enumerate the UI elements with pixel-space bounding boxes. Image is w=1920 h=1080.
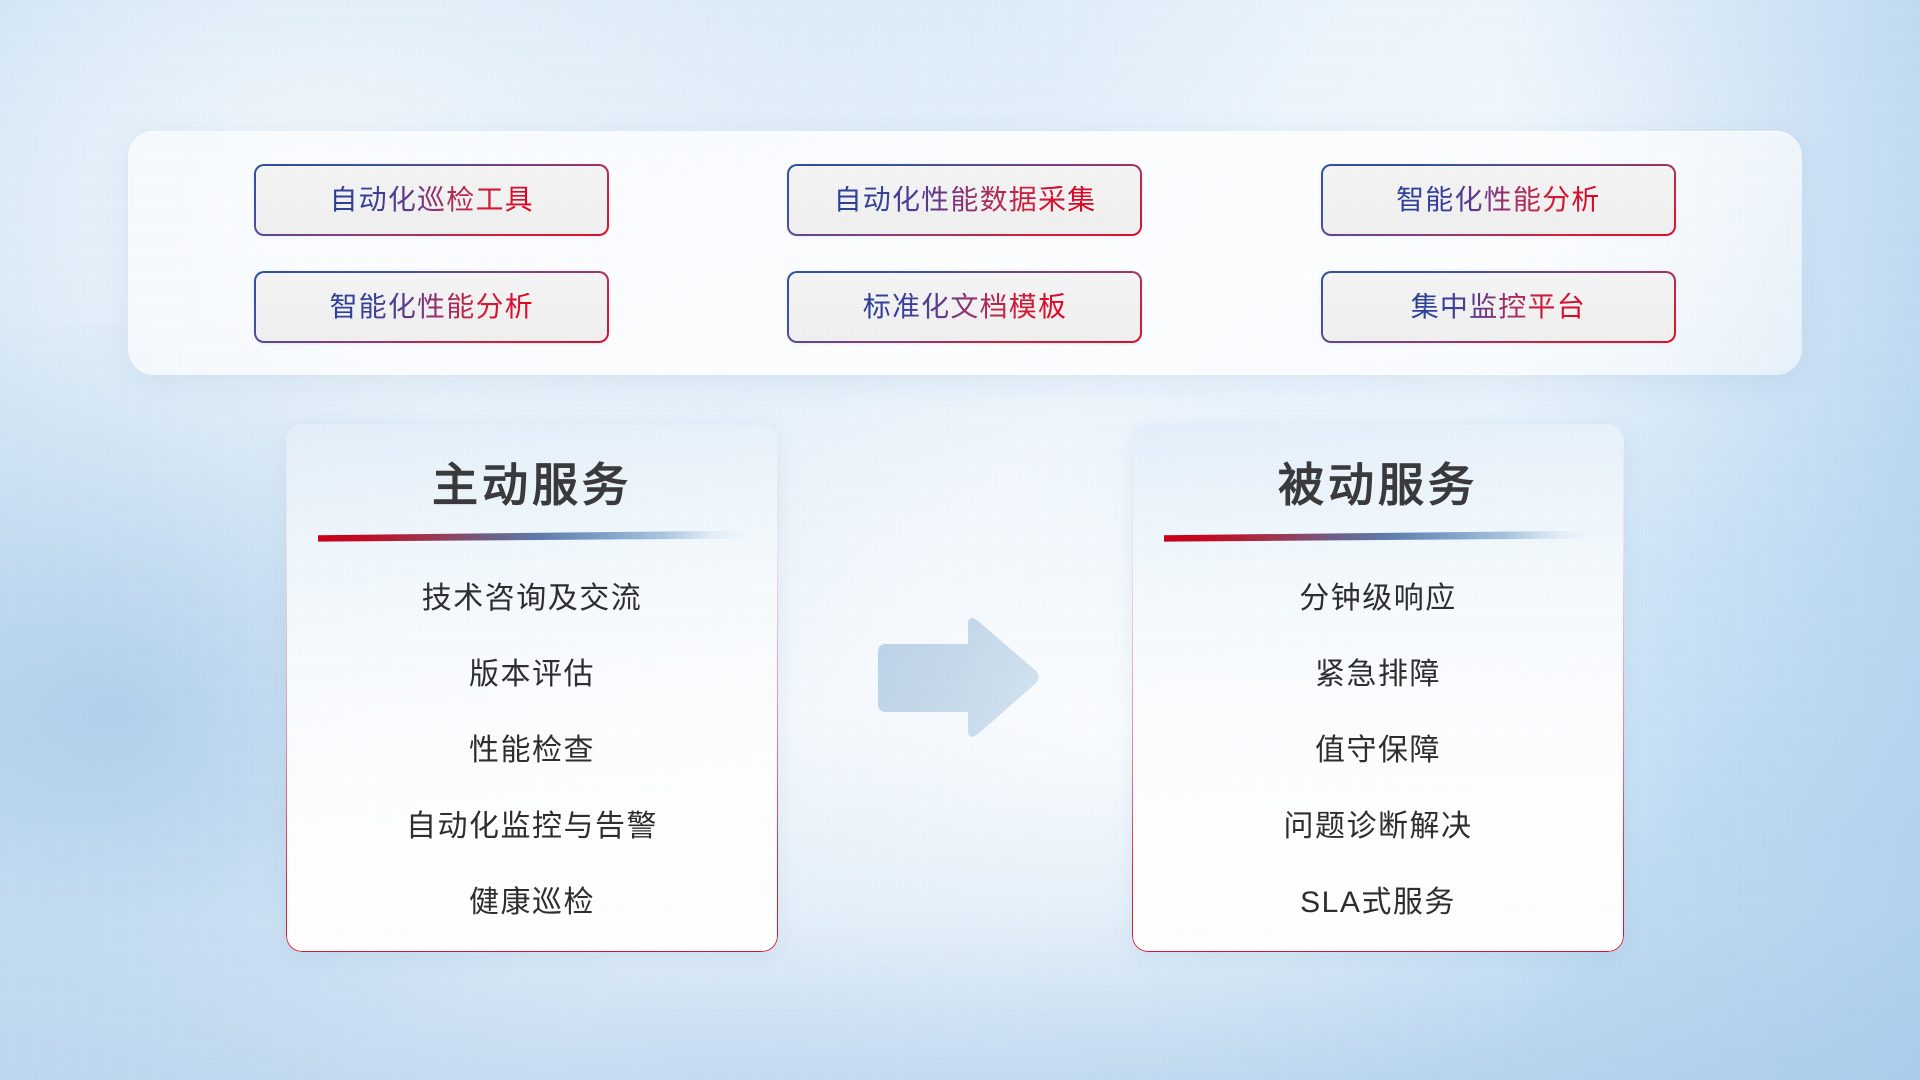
slide-stage: 自动化巡检工具 自动化性能数据采集 智能化性能分析 智能化性能分析 标准化文档模… bbox=[0, 0, 1920, 1080]
list-item[interactable]: 值守保障 bbox=[1132, 722, 1624, 780]
active-service-title: 主动服务 bbox=[432, 460, 632, 511]
capability-pill[interactable]: 标准化文档模板 bbox=[787, 271, 1142, 343]
capability-pill[interactable]: 自动化性能数据采集 bbox=[787, 164, 1142, 236]
capability-panel: 自动化巡检工具 自动化性能数据采集 智能化性能分析 智能化性能分析 标准化文档模… bbox=[128, 131, 1802, 375]
active-service-divider bbox=[318, 531, 746, 542]
list-item[interactable]: 问题诊断解决 bbox=[1132, 798, 1624, 856]
active-service-card: 主动服务 技术咨询及交流 版本评估 性能检查 自动化监控与告警 健康巡检 bbox=[286, 424, 778, 952]
passive-service-list: 分钟级响应 紧急排障 值守保障 问题诊断解决 SLA式服务 bbox=[1132, 570, 1624, 952]
list-item[interactable]: 技术咨询及交流 bbox=[286, 570, 778, 628]
list-item[interactable]: 分钟级响应 bbox=[1132, 570, 1624, 628]
active-service-list: 技术咨询及交流 版本评估 性能检查 自动化监控与告警 健康巡检 bbox=[286, 570, 778, 952]
capability-pill-label: 智能化性能分析 bbox=[1396, 186, 1600, 214]
capability-pill-label: 标准化文档模板 bbox=[863, 293, 1067, 321]
arrow-right-icon bbox=[872, 614, 1042, 742]
passive-service-card: 被动服务 分钟级响应 紧急排障 值守保障 问题诊断解决 SLA式服务 bbox=[1132, 424, 1624, 952]
capability-pill-label: 自动化巡检工具 bbox=[329, 186, 533, 214]
capability-pill-label: 集中监控平台 bbox=[1411, 293, 1586, 321]
capability-pill[interactable]: 智能化性能分析 bbox=[254, 271, 609, 343]
list-item[interactable]: 自动化监控与告警 bbox=[286, 798, 778, 856]
capability-pill[interactable]: 智能化性能分析 bbox=[1321, 164, 1676, 236]
capability-pill[interactable]: 自动化巡检工具 bbox=[254, 164, 609, 236]
list-item[interactable]: SLA式服务 bbox=[1132, 874, 1624, 932]
list-item[interactable]: 版本评估 bbox=[286, 646, 778, 704]
list-item[interactable]: 紧急排障 bbox=[1132, 646, 1624, 704]
passive-service-divider bbox=[1164, 531, 1592, 542]
list-item[interactable]: 性能检查 bbox=[286, 722, 778, 780]
capability-pill[interactable]: 集中监控平台 bbox=[1321, 271, 1676, 343]
capability-pill-label: 智能化性能分析 bbox=[329, 293, 533, 321]
passive-service-title: 被动服务 bbox=[1278, 460, 1478, 511]
capability-pill-label: 自动化性能数据采集 bbox=[834, 186, 1097, 214]
list-item[interactable]: 健康巡检 bbox=[286, 874, 778, 932]
